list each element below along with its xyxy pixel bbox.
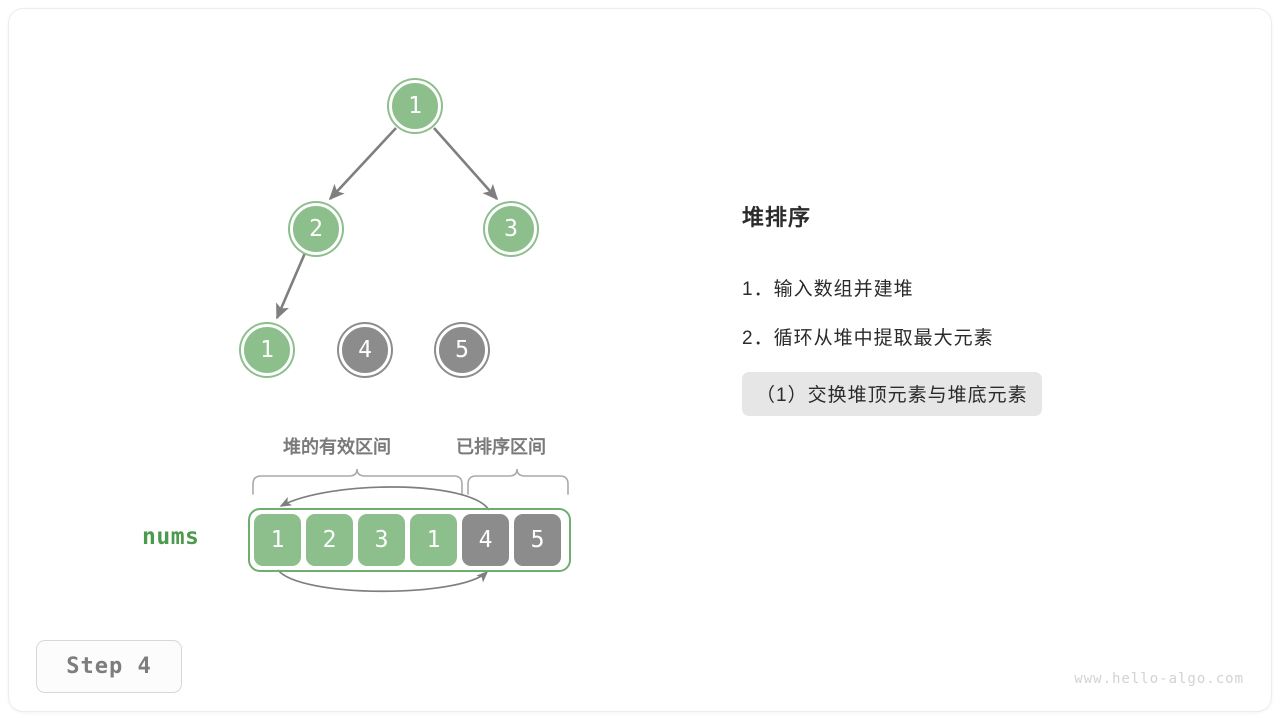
- tree-node-leaf-0[interactable]: 1: [241, 324, 293, 376]
- panel-substep-highlight: （1）交换堆顶元素与堆底元素: [742, 372, 1042, 416]
- array-cell-0[interactable]: 1: [254, 514, 301, 566]
- array-cell-1[interactable]: 2: [306, 514, 353, 566]
- array-name-label: nums: [142, 524, 199, 550]
- region-label-heap: 堆的有效区间: [283, 433, 391, 459]
- array-cell-0-value: 1: [271, 529, 285, 552]
- array-container: 1 2 3 1 4 5: [248, 508, 571, 572]
- step-badge: Step 4: [36, 640, 182, 693]
- array-cell-2[interactable]: 3: [358, 514, 405, 566]
- tree-node-root-value: 1: [408, 95, 422, 118]
- tree-node-leaf-1[interactable]: 4: [339, 324, 391, 376]
- watermark: www.hello-algo.com: [1074, 671, 1244, 687]
- panel-title: 堆排序: [742, 200, 1162, 232]
- panel-step-1: 1．输入数组并建堆: [742, 274, 1162, 301]
- array-cell-2-value: 3: [375, 529, 389, 552]
- region-label-sorted: 已排序区间: [456, 433, 546, 459]
- tree-node-leaf-1-value: 4: [358, 339, 372, 362]
- array-cell-4-value: 4: [479, 529, 493, 552]
- tree-node-leaf-2-value: 5: [455, 339, 469, 362]
- panel-step-2: 2．循环从堆中提取最大元素: [742, 323, 1162, 350]
- tree-node-root[interactable]: 1: [389, 80, 441, 132]
- tree-node-right-value: 3: [504, 218, 518, 241]
- array-cell-3-value: 1: [427, 529, 441, 552]
- diagram-canvas: 1 2 3 1 4 5 堆的有效区间 已排序区间 nums 1 2 3 1 4: [0, 0, 1280, 720]
- array-cell-5[interactable]: 5: [514, 514, 561, 566]
- tree-node-right[interactable]: 3: [485, 203, 537, 255]
- tree-node-left-value: 2: [309, 218, 323, 241]
- tree-node-leaf-0-value: 1: [260, 339, 274, 362]
- explanation-panel: 堆排序 1．输入数组并建堆 2．循环从堆中提取最大元素 （1）交换堆顶元素与堆底…: [742, 200, 1162, 416]
- array-cell-1-value: 2: [323, 529, 337, 552]
- tree-node-leaf-2[interactable]: 5: [436, 324, 488, 376]
- array-cell-4[interactable]: 4: [462, 514, 509, 566]
- tree-node-left[interactable]: 2: [290, 203, 342, 255]
- array-cell-3[interactable]: 1: [410, 514, 457, 566]
- step-badge-label: Step 4: [66, 654, 151, 679]
- array-cell-5-value: 5: [531, 529, 545, 552]
